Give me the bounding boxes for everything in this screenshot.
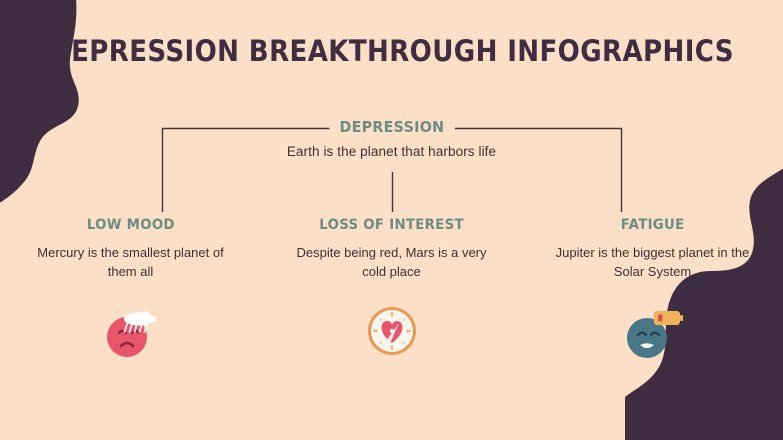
- rain-cloud-sad-face-icon: [102, 305, 160, 361]
- column-description: Jupiter is the biggest planet in the Sol…: [544, 244, 761, 282]
- icons-row: [0, 305, 783, 365]
- low-battery-tired-face-icon: [623, 305, 683, 361]
- column-fatigue: FATIGUE Jupiter is the biggest planet in…: [522, 216, 783, 282]
- column-loss-of-interest: LOSS OF INTEREST Despite being red, Mars…: [261, 216, 522, 282]
- heart-clock-icon: [366, 305, 418, 357]
- icon-cell-low-mood: [0, 305, 261, 365]
- infographic-slide: DEPRESSION BREAKTHROUGH INFOGRAPHICS DEP…: [0, 0, 783, 440]
- column-title: LOW MOOD: [87, 217, 175, 233]
- page-title: DEPRESSION BREAKTHROUGH INFOGRAPHICS: [39, 34, 744, 68]
- column-low-mood: LOW MOOD Mercury is the smallest planet …: [0, 216, 261, 282]
- root-node: DEPRESSION Earth is the planet that harb…: [0, 118, 783, 159]
- icon-cell-loss-of-interest: [261, 305, 522, 365]
- column-description: Mercury is the smallest planet of them a…: [22, 244, 239, 282]
- root-description: Earth is the planet that harbors life: [0, 144, 783, 159]
- column-title: FATIGUE: [621, 217, 685, 233]
- column-title: LOSS OF INTEREST: [319, 217, 464, 233]
- root-title: DEPRESSION: [329, 118, 454, 136]
- columns-container: LOW MOOD Mercury is the smallest planet …: [0, 216, 783, 282]
- icon-cell-fatigue: [522, 305, 783, 365]
- column-description: Despite being red, Mars is a very cold p…: [283, 244, 500, 282]
